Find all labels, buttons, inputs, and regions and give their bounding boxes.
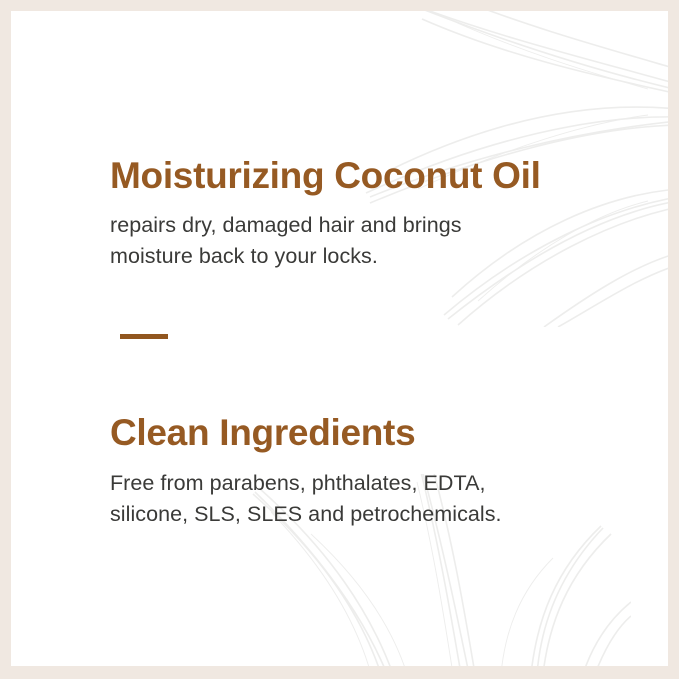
feature-list: Moisturizing Coconut Oil repairs dry, da… bbox=[110, 11, 630, 666]
feature-description-moisturizing: repairs dry, damaged hair and brings moi… bbox=[110, 210, 541, 271]
feature-block-clean: Clean Ingredients Free from parabens, ph… bbox=[110, 414, 502, 529]
feature-description-line: silicone, SLS, SLES and petrochemicals. bbox=[110, 499, 502, 530]
feature-description-line: Free from parabens, phthalates, EDTA, bbox=[110, 468, 502, 499]
feature-block-moisturizing: Moisturizing Coconut Oil repairs dry, da… bbox=[110, 157, 541, 271]
feature-title-clean: Clean Ingredients bbox=[110, 414, 502, 451]
feature-description-line: moisture back to your locks. bbox=[110, 241, 541, 272]
feature-description-clean: Free from parabens, phthalates, EDTA, si… bbox=[110, 468, 502, 529]
feature-description-line: repairs dry, damaged hair and brings bbox=[110, 210, 541, 241]
product-info-card: Moisturizing Coconut Oil repairs dry, da… bbox=[11, 11, 668, 666]
feature-title-moisturizing: Moisturizing Coconut Oil bbox=[110, 157, 541, 194]
section-divider bbox=[120, 334, 168, 339]
